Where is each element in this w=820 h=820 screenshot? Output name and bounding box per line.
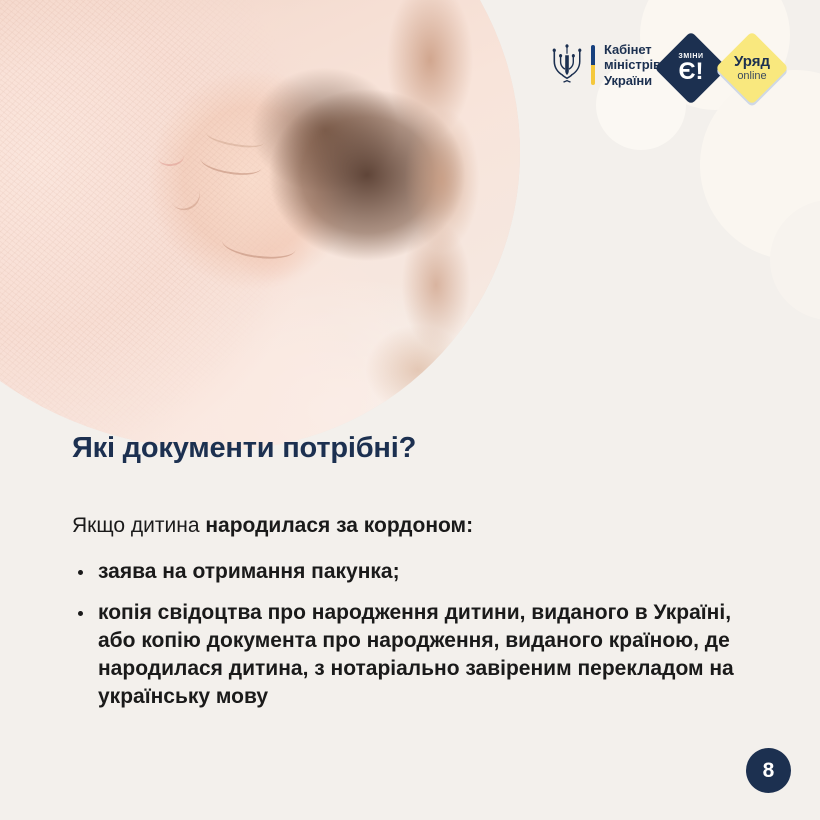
ukraine-trident-icon	[551, 43, 583, 87]
list-item: копія свідоцтва про народження дитини, в…	[72, 599, 772, 710]
intro-bold-text: народилася за кордоном:	[205, 514, 473, 537]
logo-bar: Кабінет міністрів України	[551, 42, 661, 88]
uryad-badge-subtitle: online	[737, 71, 766, 82]
list-item: заява на отримання пакунка;	[72, 558, 772, 586]
cabinet-of-ministers-label: Кабінет міністрів України	[604, 42, 661, 88]
slide-canvas: Кабінет міністрів України ЗМІНИ Є! Уряд …	[0, 0, 820, 820]
photo-image	[0, 0, 520, 450]
page-title: Які документи потрібні?	[72, 432, 772, 465]
uryad-badge-title: Уряд	[734, 54, 770, 69]
intro-regular-text: Якщо дитина	[72, 514, 205, 537]
documents-list: заява на отримання пакунка; копія свідоц…	[72, 558, 772, 711]
page-number-badge: 8	[746, 748, 791, 793]
uryad-online-badge: Уряд online	[715, 31, 789, 105]
intro-paragraph: Якщо дитина народилася за кордоном:	[72, 512, 772, 539]
content-block: Які документи потрібні? Якщо дитина наро…	[72, 432, 772, 724]
decorative-blob	[700, 70, 820, 260]
ukraine-flag-divider	[591, 45, 595, 85]
decorative-blob	[770, 200, 820, 320]
zminy-badge-big-text: Є!	[678, 61, 703, 84]
newborn-baby-photo	[0, 0, 520, 450]
